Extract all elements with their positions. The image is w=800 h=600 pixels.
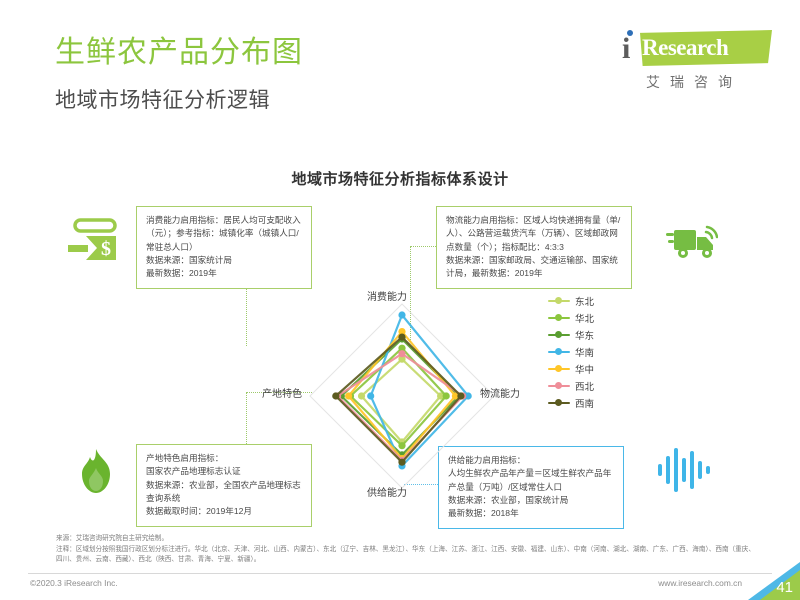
legend-label: 华南 [575, 345, 594, 359]
radar-point-华北 [443, 392, 450, 399]
radar-chart: 消费能力 物流能力 供给能力 产地特色 [262, 288, 542, 504]
legend-swatch-icon [548, 364, 570, 374]
delivery-truck-icon [666, 222, 718, 267]
note-logistics-capability: 物流能力启用指标：区域人均快递拥有量（单/人）、公路营运载货汽车（万辆）、区域邮… [436, 206, 632, 289]
radar-point-华南 [398, 311, 405, 318]
logo-chinese-name: 艾瑞咨询 [646, 72, 742, 92]
radar-point-西南 [457, 392, 464, 399]
copyright-text: ©2020.3 iResearch Inc. [30, 578, 118, 588]
axis-label-supply: 供给能力 [367, 484, 407, 499]
legend-item-东北[interactable]: 东北 [548, 292, 628, 309]
legend-label: 西南 [575, 396, 594, 410]
legend-swatch-icon [548, 398, 570, 408]
logo-dot [627, 30, 633, 36]
legend-item-西北[interactable]: 西北 [548, 377, 628, 394]
legend-label: 东北 [575, 294, 594, 308]
radar-point-华南 [367, 392, 374, 399]
radar-point-华中 [345, 392, 352, 399]
footnote-source: 来源：艾瑞咨询研究院自主研究绘制。 [56, 534, 756, 545]
axis-label-consume: 消费能力 [367, 288, 407, 303]
page-number: 41 [776, 579, 793, 596]
svg-text:$: $ [101, 238, 111, 260]
radar-point-东北 [358, 392, 365, 399]
axis-label-logistics: 物流能力 [480, 385, 520, 400]
page-title: 生鲜农产品分布图 [55, 36, 303, 69]
sound-wave-icon [658, 448, 716, 497]
legend-label: 华北 [575, 311, 594, 325]
note-consume-text: 消费能力启用指标：居民人均可支配收入（元）；参考指标：城镇化率（城镇人口/常驻总… [146, 215, 301, 278]
iresearch-logo: i Research 艾瑞咨询 [622, 30, 772, 96]
radar-point-华北 [398, 442, 405, 449]
legend-swatch-icon [548, 296, 570, 306]
legend-item-华南[interactable]: 华南 [548, 343, 628, 360]
logo-i-text: i [622, 32, 630, 65]
page-number-corner: 41 [748, 562, 800, 600]
money-transfer-icon: $ [66, 218, 122, 269]
legend-item-华北[interactable]: 华北 [548, 309, 628, 326]
radar-point-西南 [332, 392, 339, 399]
footnotes: 来源：艾瑞咨询研究院自主研究绘制。 注释：区域划分按照我国行政区划分标注进行。华… [56, 534, 756, 566]
logo-wordmark: Research [642, 35, 728, 61]
note-consume-capability: 消费能力启用指标：居民人均可支配收入（元）；参考指标：城镇化率（城镇人口/常驻总… [136, 206, 312, 289]
website-url[interactable]: www.iresearch.com.cn [658, 578, 742, 588]
radar-point-西南 [398, 459, 405, 466]
connector-origin-vert [246, 392, 247, 450]
connector-logistics [410, 246, 438, 247]
page-header: 生鲜农产品分布图 地域市场特征分析逻辑 i Research 艾瑞咨询 [0, 0, 800, 140]
legend-swatch-icon [548, 347, 570, 357]
page-subtitle: 地域市场特征分析逻辑 [55, 84, 270, 114]
footnote-note: 注释：区域划分按照我国行政区划分标注进行。华北（北京、天津、河北、山西、内蒙古）… [56, 545, 756, 566]
legend-swatch-icon [548, 313, 570, 323]
legend-label: 西北 [575, 379, 594, 393]
legend-item-华中[interactable]: 华中 [548, 360, 628, 377]
flame-icon [76, 448, 116, 499]
note-logistics-text: 物流能力启用指标：区域人均快递拥有量（单/人）、公路营运载货汽车（万辆）、区域邮… [446, 215, 620, 278]
chart-legend: 东北华北华东华南华中西北西南 [548, 292, 628, 411]
axis-label-origin: 产地特色 [262, 385, 302, 400]
legend-label: 华中 [575, 362, 594, 376]
legend-label: 华东 [575, 328, 594, 342]
legend-swatch-icon [548, 381, 570, 391]
legend-swatch-icon [548, 330, 570, 340]
chart-title: 地域市场特征分析指标体系设计 [0, 168, 800, 189]
legend-item-西南[interactable]: 西南 [548, 394, 628, 411]
legend-item-华东[interactable]: 华东 [548, 326, 628, 343]
radar-point-西北 [398, 350, 405, 357]
logo-letter-i: i [622, 34, 630, 64]
radar-point-西南 [398, 334, 405, 341]
footer-divider [28, 573, 772, 574]
